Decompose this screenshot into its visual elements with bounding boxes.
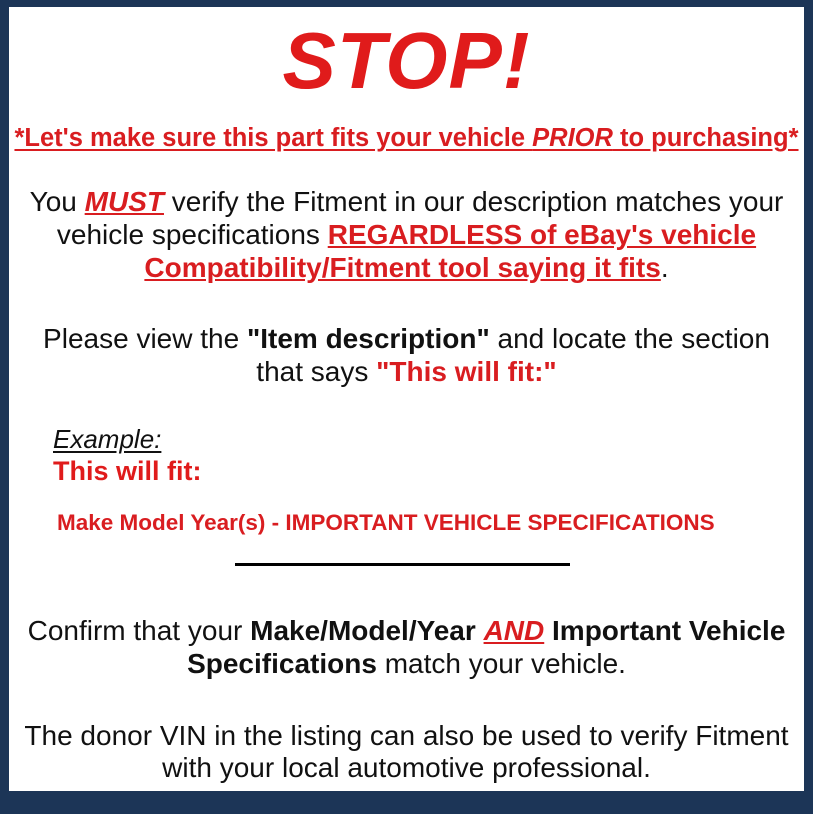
- paragraph-donor-vin: The donor VIN in the listing can also be…: [17, 681, 797, 786]
- example-spec-line: Make Model Year(s) - IMPORTANT VEHICLE S…: [53, 487, 804, 536]
- page-title: STOP!: [9, 7, 804, 101]
- fitment-notice-page: STOP! *Let's make sure this part fits yo…: [0, 0, 813, 814]
- emphasis-make-model-year: Make/Model/Year: [250, 615, 476, 646]
- subtitle-banner: *Let's make sure this part fits your veh…: [9, 101, 804, 152]
- emphasis-and: AND: [484, 615, 545, 646]
- subtitle-emphasis-prior: PRIOR: [532, 124, 613, 152]
- divider-row: [9, 536, 804, 581]
- subtitle-text-after: to purchasing*: [613, 124, 799, 152]
- item-desc-text-1: Please view the: [43, 323, 247, 354]
- verify-text-3: .: [661, 252, 669, 283]
- confirm-text-2: match your vehicle.: [377, 648, 626, 679]
- emphasis-must: MUST: [85, 186, 164, 217]
- example-section: Example: This will fit: Make Model Year(…: [9, 389, 804, 536]
- subtitle-text-before: *Let's make sure this part fits your veh…: [14, 124, 532, 152]
- notice-card: STOP! *Let's make sure this part fits yo…: [9, 7, 804, 791]
- section-divider: [235, 563, 570, 566]
- paragraph-confirm: Confirm that your Make/Model/Year AND Im…: [27, 581, 787, 681]
- paragraph-item-description: Please view the "Item description" and l…: [17, 284, 797, 389]
- example-label-row: Example:: [53, 425, 804, 454]
- emphasis-this-will-fit: "This will fit:": [376, 356, 557, 387]
- thank-you-message: Thank you for confirming Fitment!: [9, 785, 804, 814]
- example-fit-heading: This will fit:: [53, 453, 804, 487]
- example-label: Example:: [53, 425, 161, 454]
- emphasis-item-description: "Item description": [247, 323, 490, 354]
- confirm-text-1: Confirm that your: [28, 615, 251, 646]
- verify-text-1: You: [30, 186, 85, 217]
- paragraph-verify-fitment: You MUST verify the Fitment in our descr…: [27, 152, 787, 284]
